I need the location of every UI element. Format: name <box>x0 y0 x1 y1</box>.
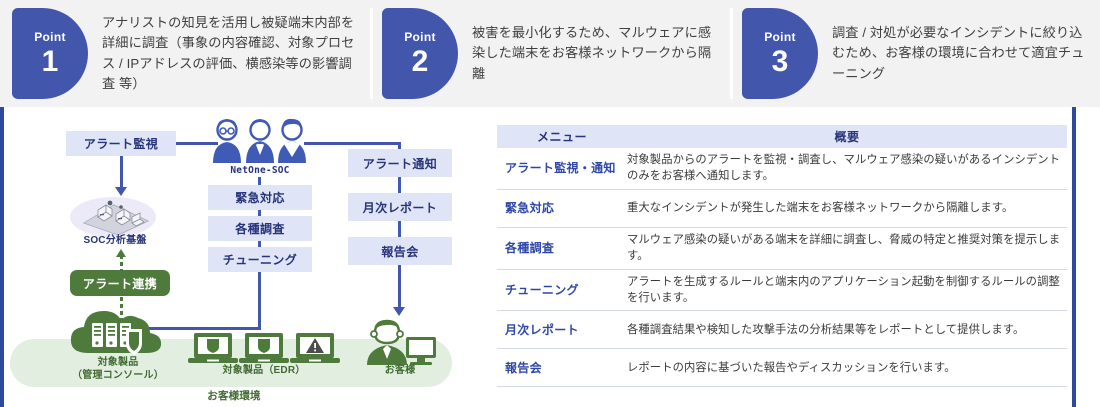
table-cell-description: アラートを生成するルールと端末内のアプリケーション起動を制御するルールの調整を行… <box>627 274 1067 307</box>
table-cell-menu: アラート監視・通知 <box>497 160 627 176</box>
soc-task-box-1[interactable]: 各種調査 <box>208 216 312 241</box>
point-badge-number: 3 <box>772 47 789 77</box>
soc-team-people-icon <box>210 117 310 165</box>
connector-soc-to-deliverables <box>304 142 401 145</box>
point-badge-1: Point 1 <box>12 8 88 99</box>
lower-panel: アラート監視 <box>0 107 1100 407</box>
table-row[interactable]: 報告会 レポートの内容に基づいた報告やディスカッションを行います。 <box>497 349 1067 387</box>
point-badge-number: 1 <box>42 47 59 77</box>
table-cell-description: マルウェア感染の疑いがある端末を詳細に調査し、脅威の特定と推奨対策を提示します。 <box>627 232 1067 265</box>
customer-caption: お客様 <box>360 365 440 378</box>
table-header-row: メニュー 概要 <box>497 125 1067 148</box>
point-card-1: Point 1 アナリストの知見を活用し被疑端末内部を詳細に調査（事象の内容確認… <box>0 0 370 107</box>
table-header-overview: 概要 <box>627 128 1067 145</box>
customer-environment-caption: お客様環境 <box>174 390 294 403</box>
table-cell-description: 各種調査結果や検知した攻撃手法の分析結果等をレポートとして提供します。 <box>627 322 1067 338</box>
table-cell-menu: チューニング <box>497 282 627 298</box>
table-header-menu: メニュー <box>497 128 627 145</box>
point-text-2: 被害を最小化するため、マルウェアに感染した端末をお客様ネットワークから隔離 <box>472 23 722 83</box>
connector-deliverable-1-2 <box>398 221 401 237</box>
point-badge-number: 2 <box>412 47 429 77</box>
point-badge-word: Point <box>764 31 796 43</box>
target-product-console-icon <box>66 303 170 359</box>
infographic-root: Point 1 アナリストの知見を活用し被疑端末内部を詳細に調査（事象の内容確認… <box>0 0 1100 407</box>
point-badge-2: Point 2 <box>382 8 458 99</box>
table-row[interactable]: 各種調査 マルウェア感染の疑いがある端末を詳細に調査し、脅威の特定と推奨対策を提… <box>497 228 1067 270</box>
table-cell-menu: 各種調査 <box>497 240 627 256</box>
alert-linkage-box[interactable]: アラート連携 <box>70 270 170 296</box>
alert-monitoring-box[interactable]: アラート監視 <box>66 131 176 156</box>
soc-team-caption: NetOne-SOC <box>208 165 312 177</box>
point-card-3: Point 3 調査 / 対処が必要なインシデントに絞り込むため、お客様の環境に… <box>730 0 1100 107</box>
point-badge-3: Point 3 <box>742 8 818 99</box>
target-product-edr-icon <box>188 331 340 367</box>
deliverable-box-1[interactable]: 月次レポート <box>348 193 452 221</box>
arrow-report-to-customer-icon <box>393 307 405 316</box>
soc-task-box-0[interactable]: 緊急対応 <box>208 185 312 210</box>
table-cell-menu: 緊急対応 <box>497 200 627 216</box>
soc-analysis-platform-icon <box>76 195 154 237</box>
customer-icon <box>362 319 438 367</box>
table-row[interactable]: アラート監視・通知 対象製品からのアラートを監視・調査し、マルウェア感染の疑いが… <box>497 148 1067 190</box>
connector-monitor-to-platform <box>120 156 123 188</box>
point-badge-word: Point <box>404 31 436 43</box>
service-flow-diagram: アラート監視 <box>4 107 480 407</box>
table-cell-menu: 報告会 <box>497 360 627 376</box>
target-product-console-caption: 対象製品 （管理コンソール） <box>54 357 182 382</box>
connector-deliverable-0-1 <box>398 177 401 193</box>
table-cell-description: 対象製品からのアラートを監視・調査し、マルウェア感染の疑いがあるインシデントのみ… <box>627 152 1067 185</box>
connector-report-to-customer <box>398 265 401 309</box>
point-text-3: 調査 / 対処が必要なインシデントに絞り込むため、お客様の環境に合わせて適宜チュ… <box>832 23 1092 83</box>
table-row[interactable]: 月次レポート 各種調査結果や検知した攻撃手法の分析結果等をレポートとして提供しま… <box>497 311 1067 349</box>
soc-platform-caption: SOC分析基盤 <box>66 235 164 248</box>
deliverable-box-2[interactable]: 報告会 <box>348 237 452 265</box>
deliverable-box-0[interactable]: アラート通知 <box>348 149 452 177</box>
soc-task-box-2[interactable]: チューニング <box>208 247 312 272</box>
table-cell-description: レポートの内容に基づいた報告やディスカッションを行います。 <box>627 360 1067 376</box>
service-menu-table: メニュー 概要 アラート監視・通知 対象製品からのアラートを監視・調査し、マルウ… <box>497 125 1067 387</box>
points-strip: Point 1 アナリストの知見を活用し被疑端末内部を詳細に調査（事象の内容確認… <box>0 0 1100 107</box>
point-card-2: Point 2 被害を最小化するため、マルウェアに感染した端末をお客様ネットワー… <box>370 0 730 107</box>
table-cell-menu: 月次レポート <box>497 322 627 338</box>
console-caption-line-1: 対象製品 <box>54 357 182 370</box>
point-badge-word: Point <box>34 31 66 43</box>
table-row[interactable]: チューニング アラートを生成するルールと端末内のアプリケーション起動を制御するル… <box>497 270 1067 312</box>
panel-right-border <box>1072 107 1076 407</box>
console-caption-line-2: （管理コンソール） <box>54 370 182 383</box>
table-cell-description: 重大なインシデントが発生した端末をお客様ネットワークから隔離します。 <box>627 200 1067 216</box>
connector-team-to-tasks <box>258 177 261 185</box>
arrow-alert-link-up-icon <box>116 249 126 257</box>
point-text-1: アナリストの知見を活用し被疑端末内部を詳細に調査（事象の内容確認、対象プロセス … <box>102 13 362 93</box>
table-row[interactable]: 緊急対応 重大なインシデントが発生した端末をお客様ネットワークから隔離します。 <box>497 190 1067 228</box>
target-product-edr-caption: 対象製品（EDR） <box>186 365 342 378</box>
connector-tuning-down <box>258 272 261 330</box>
